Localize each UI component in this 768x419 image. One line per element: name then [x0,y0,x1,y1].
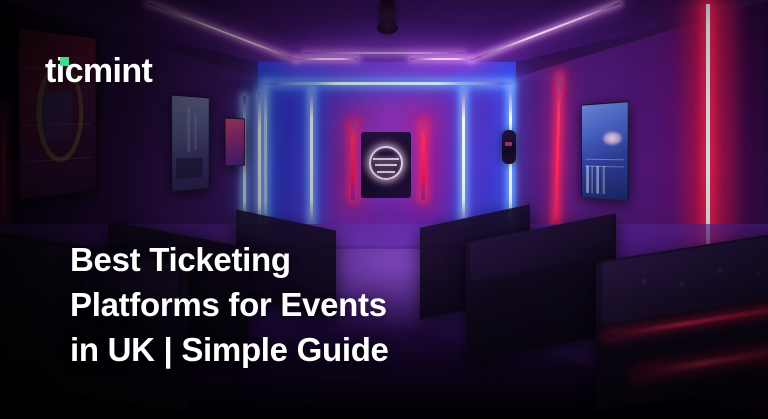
leather-sofa [596,230,768,412]
projector-fixture-icon [381,0,394,30]
framed-artwork-left-second [171,94,209,191]
sign-bar [373,158,399,160]
ceiling-led-strip [296,58,358,60]
framed-artwork-left-small [225,118,245,167]
sign-circle-icon [369,146,403,180]
sofa-red-reflection [636,348,768,377]
headline-line-2: Platforms for Events [70,282,490,327]
framed-poster-right [581,101,629,201]
far-wall-circular-sign [361,132,411,198]
artwork-strip [195,114,197,151]
wall-speaker-icon [502,130,516,164]
page-title: Best Ticketing Platforms for Events in U… [70,237,490,372]
mint-square-icon [60,57,69,66]
artwork-strip [187,108,190,152]
left-wall-led-strip [258,92,261,234]
poster-skyline-shape [586,166,612,195]
hero-banner: ticmint Best Ticketing Platforms for Eve… [0,0,768,419]
vertical-neon-strip-blue [310,88,313,230]
artwork-strip [176,157,202,178]
headline-line-1: Best Ticketing [70,237,490,282]
vertical-neon-strip-red [421,122,425,200]
poster-sun-shape [603,132,622,146]
right-wall-red-neon-strip [706,4,710,250]
far-wall-top-neon [262,82,512,85]
vertical-neon-strip-blue [264,84,267,234]
vertical-neon-strip-blue [462,88,465,230]
sign-bar [377,171,395,173]
headline-line-3: in UK | Simple Guide [70,327,490,372]
sign-bar [375,164,397,166]
left-corner-red-neon [2,108,5,228]
vertical-neon-strip-red [351,122,355,200]
ceiling-led-strip [304,52,464,54]
ticmint-logo[interactable]: ticmint [45,54,152,88]
ceiling-led-strip [410,58,472,60]
poster-line [585,158,623,159]
